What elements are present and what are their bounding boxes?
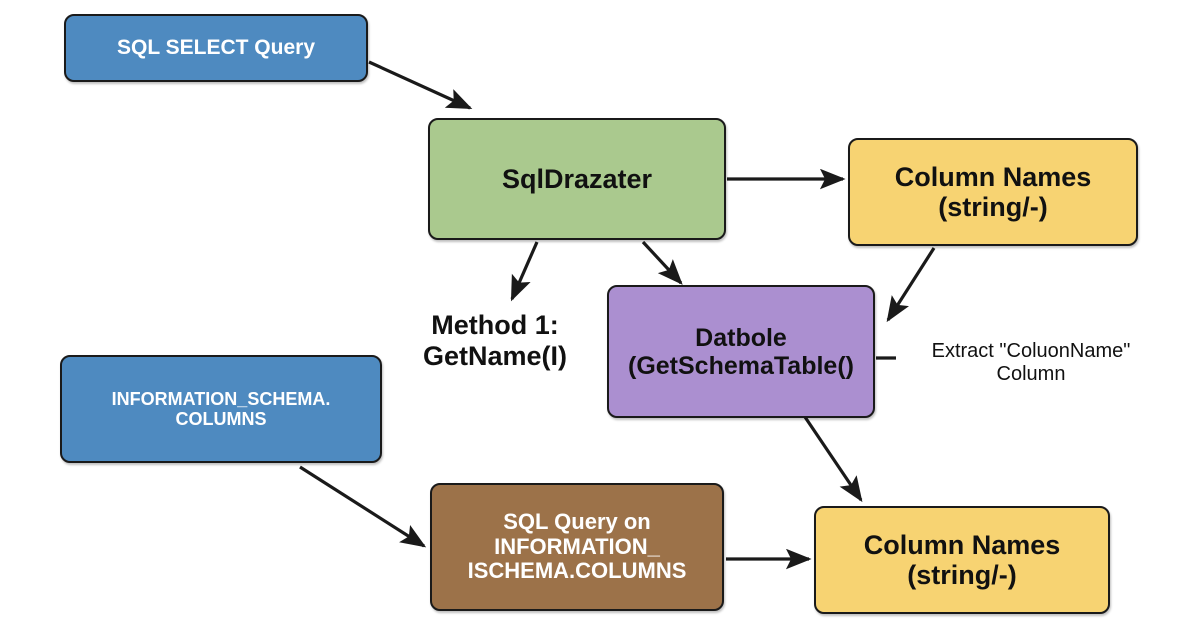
node-sql-query-on-information-schema[interactable]: SQL Query on INFORMATION_ ISCHEMA.COLUMN… — [430, 483, 724, 611]
node-label: Datbole (GetSchemaTable() — [619, 324, 863, 380]
node-column-names-output-2[interactable]: Column Names (string/-) — [814, 506, 1110, 614]
node-sqldrazater[interactable]: SqlDrazater — [428, 118, 726, 240]
node-sql-select-query[interactable]: SQL SELECT Query — [64, 14, 368, 82]
edge-sql-select-to-sqldrazater — [369, 62, 470, 108]
edge-sqldrazater-to-datbole — [643, 242, 681, 283]
edge-datbole-to-column-names-2 — [805, 417, 861, 500]
node-label: SqlDrazater — [440, 164, 714, 194]
node-label: Column Names (string/-) — [860, 162, 1126, 222]
node-label: Column Names (string/-) — [826, 530, 1098, 590]
node-label: SQL SELECT Query — [76, 36, 356, 60]
node-information-schema-columns[interactable]: INFORMATION_SCHEMA. COLUMNS — [60, 355, 382, 463]
node-datbole-getschematable[interactable]: Datbole (GetSchemaTable() — [607, 285, 875, 418]
annotation-method-1: Method 1: GetName(I) — [390, 310, 600, 372]
node-label: SQL Query on INFORMATION_ ISCHEMA.COLUMN… — [442, 510, 712, 584]
edge-info-schema-to-sql-query-on — [300, 467, 424, 546]
annotation-extract-column: Extract "ColuonName" Column — [898, 340, 1164, 386]
edge-column-names-1-to-datbole — [888, 248, 934, 320]
node-column-names-output-1[interactable]: Column Names (string/-) — [848, 138, 1138, 246]
edge-sqldrazater-to-method1 — [512, 242, 537, 299]
diagram-canvas: SQL SELECT Query SqlDrazater Column Name… — [0, 0, 1200, 630]
node-label: INFORMATION_SCHEMA. COLUMNS — [72, 389, 370, 429]
